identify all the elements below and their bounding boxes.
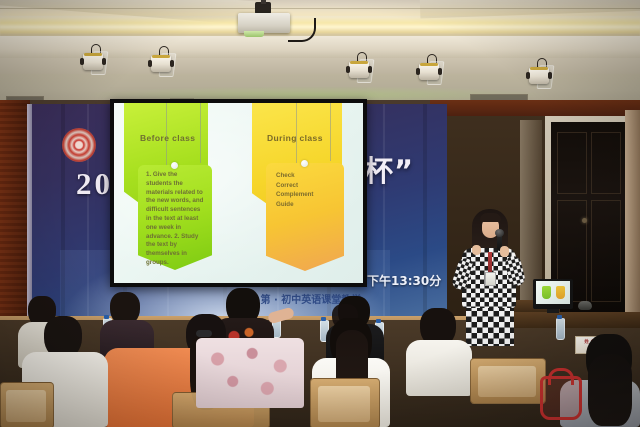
monitor-yellow-card-icon xyxy=(556,286,565,299)
spotlight-yoke-right xyxy=(102,58,106,65)
organization-emblem-icon xyxy=(62,128,96,162)
slide-card-before-class-title: Before class xyxy=(140,133,195,143)
spotlight-5 xyxy=(528,58,550,84)
spotlight-band xyxy=(420,63,438,66)
slide-card-during-class-text: Check Correct Complement Guide xyxy=(276,171,336,209)
spotlight-band xyxy=(350,61,368,64)
cove-light-strip xyxy=(0,16,640,36)
hair-clip-icon xyxy=(196,330,212,337)
banner-headline: 杯” xyxy=(364,148,414,190)
spotlight-yoke-left xyxy=(80,58,84,65)
spotlight-yoke-right xyxy=(368,66,372,73)
presenter-lanyard xyxy=(488,252,492,274)
banner-left-edge xyxy=(27,104,32,318)
banner-time-text: 下午13:30分 xyxy=(367,272,441,289)
microphone-icon[interactable] xyxy=(495,229,504,237)
door-handle[interactable] xyxy=(582,218,587,223)
spotlight-yoke-left xyxy=(416,68,420,75)
door-panel-4 xyxy=(591,200,621,302)
presenter-badge xyxy=(485,272,496,286)
bottle-cap xyxy=(321,317,326,321)
spotlight-yoke-left xyxy=(526,72,530,79)
right-pillar xyxy=(625,110,640,320)
chair-seat-panel xyxy=(478,366,536,397)
computer-mouse[interactable] xyxy=(578,301,592,310)
spotlight-band xyxy=(530,67,548,70)
presenter-fringe xyxy=(480,213,501,222)
door-panel-2 xyxy=(591,132,621,194)
spotlight-yoke-right xyxy=(438,68,442,75)
slide-card-before-class-text: 1. Give the students the materials relat… xyxy=(146,171,204,268)
slide-card-during-class-title: During class xyxy=(267,133,323,143)
ceiling-projector xyxy=(238,13,290,33)
floral-chair-cover xyxy=(196,338,304,408)
spotlight-yoke-right xyxy=(548,72,552,79)
bottle-cap xyxy=(376,319,381,323)
spotlight-band xyxy=(152,55,170,58)
spotlight-1 xyxy=(82,44,104,70)
presenter-hand-right xyxy=(500,246,509,257)
chair-seat-panel xyxy=(6,390,46,422)
card-pin-right xyxy=(301,160,308,167)
door-panel-1 xyxy=(557,132,587,194)
spotlight-band xyxy=(84,53,102,56)
spotlight-yoke-left xyxy=(148,60,152,67)
monitor-stand xyxy=(547,309,559,313)
card-pin-left xyxy=(171,162,178,169)
card-string-left-2 xyxy=(200,103,201,163)
right-wall-trim xyxy=(430,100,640,116)
projection-screen: Before class 1. Give the students the ma… xyxy=(114,103,363,283)
card-string-right-2 xyxy=(330,103,331,161)
wood-panel-shadow xyxy=(0,100,30,330)
spotlight-3 xyxy=(348,52,370,78)
handbag[interactable] xyxy=(540,376,582,420)
bottle-cap xyxy=(557,315,562,319)
spotlight-yoke-left xyxy=(346,66,350,73)
chair-seat-panel xyxy=(318,386,370,422)
banner-year-number: 20 xyxy=(76,166,113,202)
bottle-cap xyxy=(104,315,109,319)
water-bottle[interactable] xyxy=(556,318,565,340)
screenshot-root: 20 杯” 下午13:30分 日 第 · 初中英语课堂教学 Before cla… xyxy=(0,0,640,427)
audience-torso xyxy=(406,340,472,396)
projector-lens xyxy=(244,31,264,37)
spotlight-4 xyxy=(418,54,440,80)
presenter-hand-left xyxy=(472,245,481,255)
monitor-green-card-icon xyxy=(542,286,551,299)
spotlight-2 xyxy=(150,46,172,72)
projector-mount-rod xyxy=(261,0,266,4)
audience-long-hair xyxy=(588,354,632,426)
spotlight-yoke-right xyxy=(170,60,174,67)
ceiling-seam-upper xyxy=(0,8,640,9)
